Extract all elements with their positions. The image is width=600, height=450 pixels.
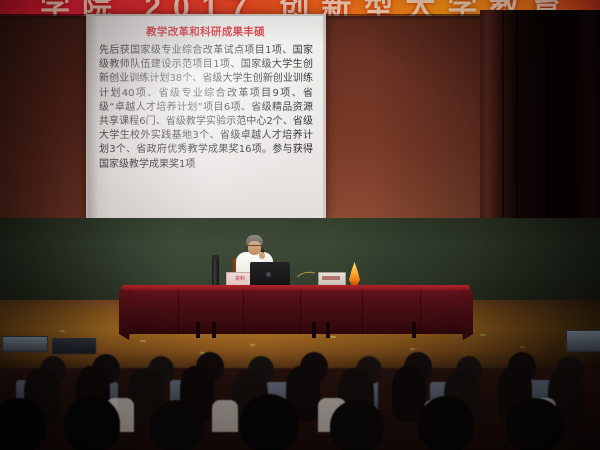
audience-head-front xyxy=(64,396,120,450)
speaker-glasses xyxy=(248,245,261,249)
lecture-hall-photo: 学院 2017 创新型大学教育 教学改革和科研成果丰硕 先后获国家级专业综合改革… xyxy=(0,0,600,450)
audience-head-front xyxy=(150,400,204,450)
stage-monitor-right xyxy=(566,330,600,352)
audience-head-front xyxy=(418,396,474,450)
thermos-bottle xyxy=(212,258,219,286)
speaker-hand xyxy=(259,252,265,259)
paper-box-label: 资料 xyxy=(228,275,252,282)
thermos-cap xyxy=(212,255,219,259)
audience-head-front xyxy=(330,400,384,450)
audience-shirt xyxy=(212,400,238,432)
laptop-logo-icon xyxy=(266,272,271,277)
audience-head-front xyxy=(240,394,298,450)
small-box-band xyxy=(322,276,340,280)
stage-monitor-left xyxy=(2,336,48,352)
audience-head-front xyxy=(506,398,564,450)
